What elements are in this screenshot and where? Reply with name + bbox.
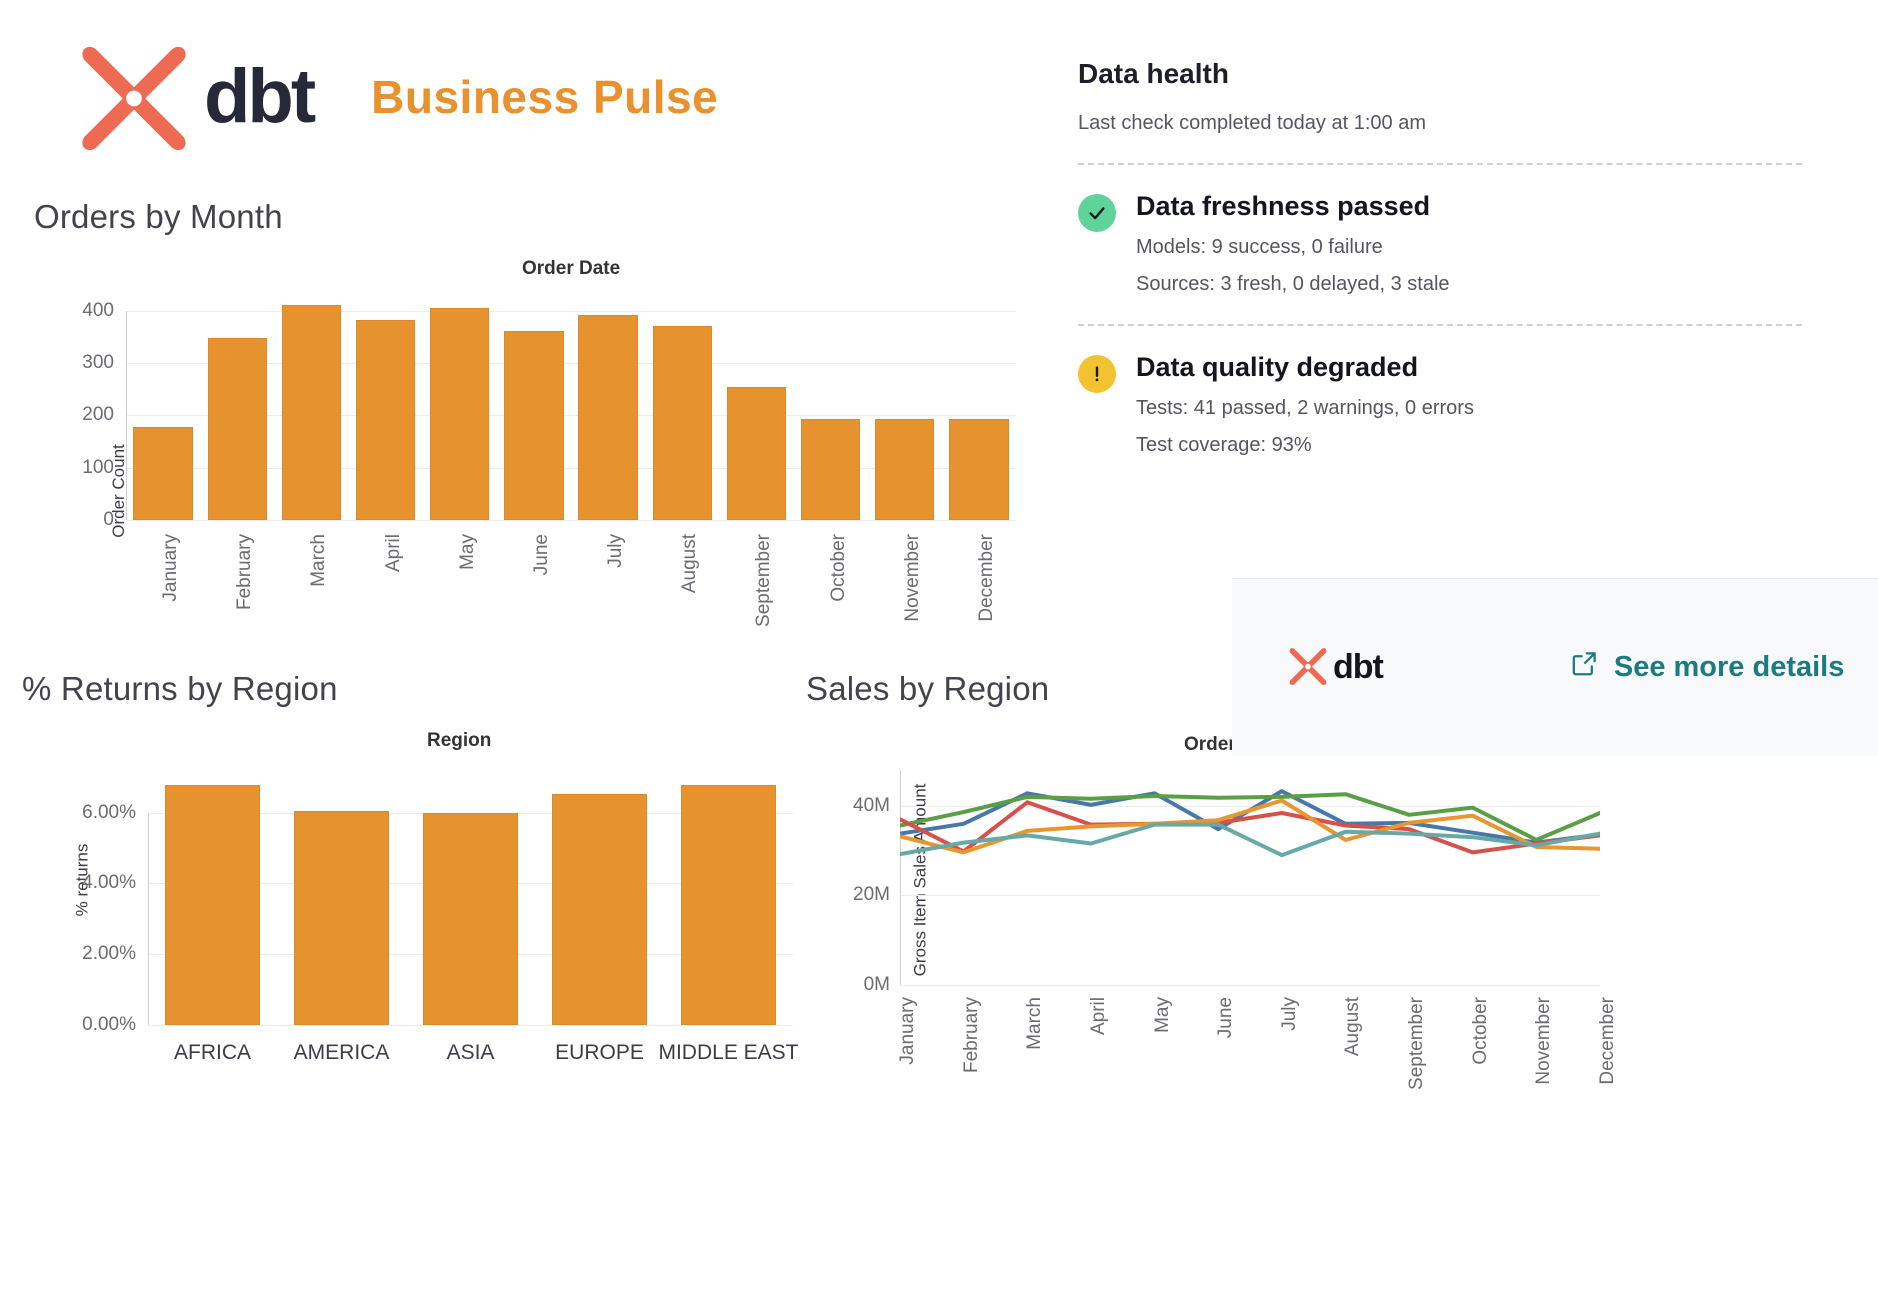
returns-chart-subtitle: Region bbox=[427, 730, 491, 752]
returns-plot-area: % returns 0.00%2.00%4.00%6.00%AFRICAAMER… bbox=[148, 770, 793, 1025]
x-axis-tick-label: AMERICA bbox=[294, 1041, 390, 1065]
y-axis-line bbox=[148, 813, 149, 1026]
x-axis-tick-label: June bbox=[531, 534, 553, 575]
gridline bbox=[126, 520, 1016, 521]
y-axis-tick-label: 4.00% bbox=[82, 872, 136, 894]
y-axis-tick-label: 400 bbox=[82, 300, 114, 322]
bar[interactable] bbox=[552, 794, 647, 1025]
x-axis-tick-label: March bbox=[1024, 997, 1046, 1050]
bar[interactable] bbox=[165, 785, 260, 1025]
x-axis-tick-label: October bbox=[1470, 997, 1492, 1065]
x-axis-tick-label: September bbox=[1406, 997, 1428, 1090]
dbt-logo: dbt bbox=[78, 38, 313, 155]
check-circle-icon bbox=[1078, 194, 1116, 232]
see-more-details-label: See more details bbox=[1614, 651, 1845, 684]
y-axis-tick-label: 300 bbox=[82, 352, 114, 374]
sales-lines bbox=[900, 770, 1600, 985]
y-axis-tick-label: 0.00% bbox=[82, 1014, 136, 1036]
x-axis-tick-label: May bbox=[457, 534, 479, 570]
bar[interactable] bbox=[727, 387, 786, 520]
bar[interactable] bbox=[208, 338, 267, 520]
data-health-panel: Data health Last check completed today a… bbox=[1078, 58, 1802, 457]
x-axis-tick-label: February bbox=[234, 534, 256, 610]
sales-plot-area: Gross Item Sales Amount 0M20M40MJanuaryF… bbox=[900, 770, 1600, 985]
cta-dbt-logo: dbt bbox=[1288, 645, 1383, 690]
returns-section-title: % Returns by Region bbox=[22, 670, 338, 708]
x-axis-tick-label: November bbox=[1533, 997, 1555, 1085]
bar[interactable] bbox=[430, 308, 489, 520]
x-axis-tick-label: October bbox=[828, 534, 850, 602]
see-more-details-link[interactable]: See more details bbox=[1571, 650, 1845, 685]
data-health-subtitle: Last check completed today at 1:00 am bbox=[1078, 112, 1802, 135]
y-axis-tick-label: 40M bbox=[853, 795, 890, 817]
status-row-freshness: Data freshness passed Models: 9 success,… bbox=[1078, 191, 1802, 296]
bar[interactable] bbox=[578, 315, 637, 520]
sales-by-region-chart: Order Date Gross Item Sales Amount 0M20M… bbox=[806, 722, 1866, 1112]
y-axis-tick-label: 200 bbox=[82, 404, 114, 426]
y-axis-line bbox=[126, 311, 127, 520]
x-axis-tick-label: EUROPE bbox=[555, 1041, 644, 1065]
gridline bbox=[126, 311, 1016, 312]
dbt-wordmark: dbt bbox=[204, 59, 313, 135]
orders-section-title: Orders by Month bbox=[34, 198, 283, 236]
x-axis-tick-label: AFRICA bbox=[174, 1041, 251, 1065]
page-header: dbt Business Pulse bbox=[78, 38, 718, 155]
y-axis-tick-label: 100 bbox=[82, 457, 114, 479]
divider bbox=[1078, 324, 1802, 326]
x-axis-tick-label: ASIA bbox=[447, 1041, 495, 1065]
status-heading: Data quality degraded bbox=[1136, 352, 1474, 383]
orders-plot-area: Order Count 0100200300400JanuaryFebruary… bbox=[126, 295, 1016, 520]
bar[interactable] bbox=[875, 419, 934, 520]
bar[interactable] bbox=[356, 320, 415, 520]
status-detail-line: Test coverage: 93% bbox=[1136, 434, 1474, 457]
bar[interactable] bbox=[681, 785, 776, 1025]
y-axis-tick-label: 0M bbox=[864, 974, 890, 996]
orders-by-month-chart: Order Date Order Count 0100200300400Janu… bbox=[34, 250, 1024, 640]
returns-by-region-chart: Region % returns 0.00%2.00%4.00%6.00%AFR… bbox=[22, 722, 812, 1102]
dbt-x-logo-icon bbox=[78, 38, 190, 155]
line-series-europe[interactable] bbox=[900, 801, 1600, 853]
x-axis-tick-label: April bbox=[383, 534, 405, 572]
y-axis-tick-label: 2.00% bbox=[82, 943, 136, 965]
x-axis-tick-label: April bbox=[1088, 997, 1110, 1035]
bar[interactable] bbox=[504, 331, 563, 520]
status-detail-line: Sources: 3 fresh, 0 delayed, 3 stale bbox=[1136, 273, 1450, 296]
bar[interactable] bbox=[949, 419, 1008, 520]
x-axis-tick-label: November bbox=[902, 534, 924, 622]
x-axis-tick-label: December bbox=[976, 534, 998, 622]
data-health-title: Data health bbox=[1078, 58, 1802, 90]
divider bbox=[1078, 163, 1802, 165]
bar[interactable] bbox=[423, 813, 518, 1025]
gridline bbox=[900, 985, 1600, 986]
bar[interactable] bbox=[133, 427, 192, 520]
x-axis-tick-label: March bbox=[308, 534, 330, 587]
x-axis-tick-label: July bbox=[605, 534, 627, 568]
dbt-wordmark: dbt bbox=[1333, 648, 1383, 687]
x-axis-tick-label: December bbox=[1597, 997, 1619, 1085]
status-heading: Data freshness passed bbox=[1136, 191, 1450, 222]
bar[interactable] bbox=[294, 811, 389, 1025]
see-more-details-panel: dbt See more details bbox=[1232, 578, 1878, 756]
x-axis-tick-label: July bbox=[1279, 997, 1301, 1031]
y-axis-tick-label: 6.00% bbox=[82, 802, 136, 824]
external-link-icon bbox=[1571, 650, 1598, 685]
dbt-x-logo-icon bbox=[1288, 645, 1328, 690]
y-axis-tick-label: 20M bbox=[853, 884, 890, 906]
status-detail-line: Models: 9 success, 0 failure bbox=[1136, 236, 1450, 259]
status-detail-line: Tests: 41 passed, 2 warnings, 0 errors bbox=[1136, 397, 1474, 420]
y-axis-tick-label: 0 bbox=[103, 509, 114, 531]
x-axis-tick-label: September bbox=[753, 534, 775, 627]
x-axis-tick-label: January bbox=[160, 534, 182, 602]
sales-section-title: Sales by Region bbox=[806, 670, 1049, 708]
gridline bbox=[148, 1025, 793, 1026]
orders-chart-subtitle: Order Date bbox=[522, 258, 620, 280]
status-row-quality: Data quality degraded Tests: 41 passed, … bbox=[1078, 352, 1802, 457]
warning-circle-icon bbox=[1078, 355, 1116, 393]
x-axis-tick-label: August bbox=[1342, 997, 1364, 1056]
x-axis-tick-label: January bbox=[897, 997, 919, 1065]
bar[interactable] bbox=[282, 305, 341, 520]
x-axis-tick-label: February bbox=[961, 997, 983, 1073]
x-axis-tick-label: June bbox=[1215, 997, 1237, 1038]
bar[interactable] bbox=[801, 419, 860, 520]
x-axis-tick-label: May bbox=[1152, 997, 1174, 1033]
page-title: Business Pulse bbox=[371, 70, 718, 124]
x-axis-tick-label: August bbox=[679, 534, 701, 593]
x-axis-tick-label: MIDDLE EAST bbox=[658, 1041, 798, 1065]
bar[interactable] bbox=[653, 326, 712, 520]
